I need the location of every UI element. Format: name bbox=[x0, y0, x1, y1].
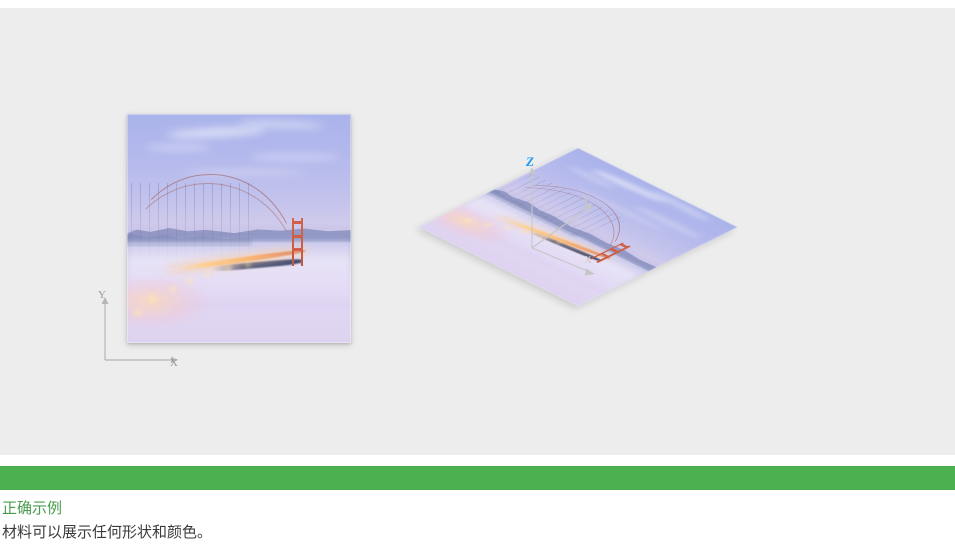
axis-3d-x-label: X bbox=[584, 254, 592, 266]
green-divider-bar bbox=[0, 466, 955, 490]
caption-description: 材料可以展示任何形状和颜色。 bbox=[2, 521, 955, 543]
caption-title: 正确示例 bbox=[2, 498, 955, 518]
axes-3d bbox=[520, 138, 640, 288]
axis-2d-y-label: Y bbox=[98, 289, 106, 301]
caption-block: 正确示例 材料可以展示任何形状和颜色。 bbox=[0, 498, 955, 543]
axes-2d bbox=[95, 288, 195, 368]
iso-example-group: Z Y X bbox=[520, 128, 920, 348]
example-stage-panel: Y X bbox=[0, 8, 955, 455]
axis-3d-x-arrowhead bbox=[585, 269, 595, 276]
axis-2d-x-label: X bbox=[170, 357, 178, 369]
axis-3d-z-label: Z bbox=[526, 154, 534, 170]
axis-3d-y-line bbox=[532, 208, 588, 248]
axis-3d-y-label: Y bbox=[582, 194, 590, 206]
axis-3d-x-line bbox=[532, 248, 590, 272]
